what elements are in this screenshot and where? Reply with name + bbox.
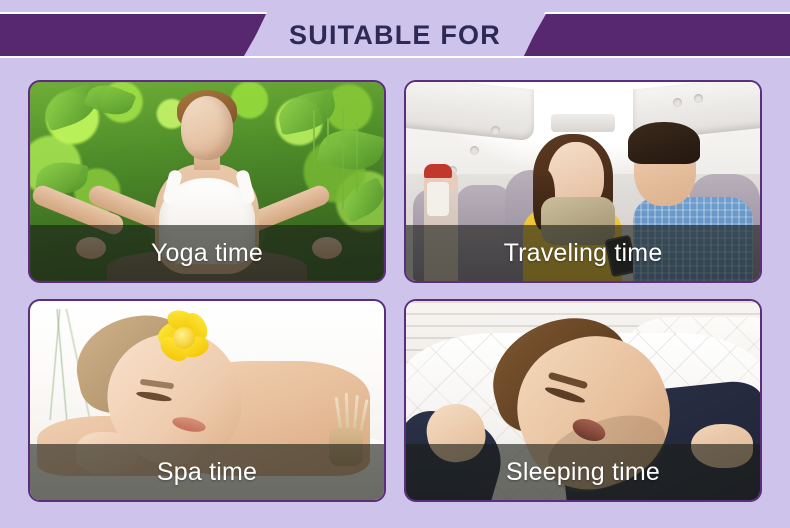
banner-rule-bottom	[0, 56, 790, 58]
card-caption-bar: Yoga time	[30, 225, 384, 281]
man-hair	[628, 122, 700, 164]
flight-attendant-hat	[424, 164, 452, 178]
card-caption-bar: Spa time	[30, 444, 384, 500]
header-banner: SUITABLE FOR	[0, 0, 790, 70]
card-sleeping-time[interactable]: Sleeping time	[404, 299, 762, 502]
card-caption-label: Traveling time	[504, 239, 663, 268]
card-caption-bar: Sleeping time	[406, 444, 760, 500]
vine-shape	[342, 106, 344, 210]
card-caption-bar: Traveling time	[406, 225, 760, 281]
suitable-for-grid: Yoga time	[28, 80, 762, 502]
cabin-light	[470, 146, 479, 155]
cabin-light	[673, 98, 682, 107]
page-title: SUITABLE FOR	[0, 14, 790, 56]
card-traveling-time[interactable]: Traveling time	[404, 80, 762, 283]
service-panel	[551, 114, 615, 132]
yellow-flower	[157, 311, 213, 363]
card-yoga-time[interactable]: Yoga time	[28, 80, 386, 283]
card-spa-time[interactable]: Spa time	[28, 299, 386, 502]
card-caption-label: Sleeping time	[506, 458, 660, 487]
card-caption-label: Yoga time	[151, 239, 263, 268]
figure-head	[181, 96, 233, 160]
vine-shape	[356, 122, 358, 192]
flight-attendant-scarf	[427, 182, 449, 216]
cabin-light	[491, 126, 500, 135]
card-caption-label: Spa time	[157, 458, 257, 487]
suitable-for-banner: SUITABLE FOR	[0, 0, 790, 528]
